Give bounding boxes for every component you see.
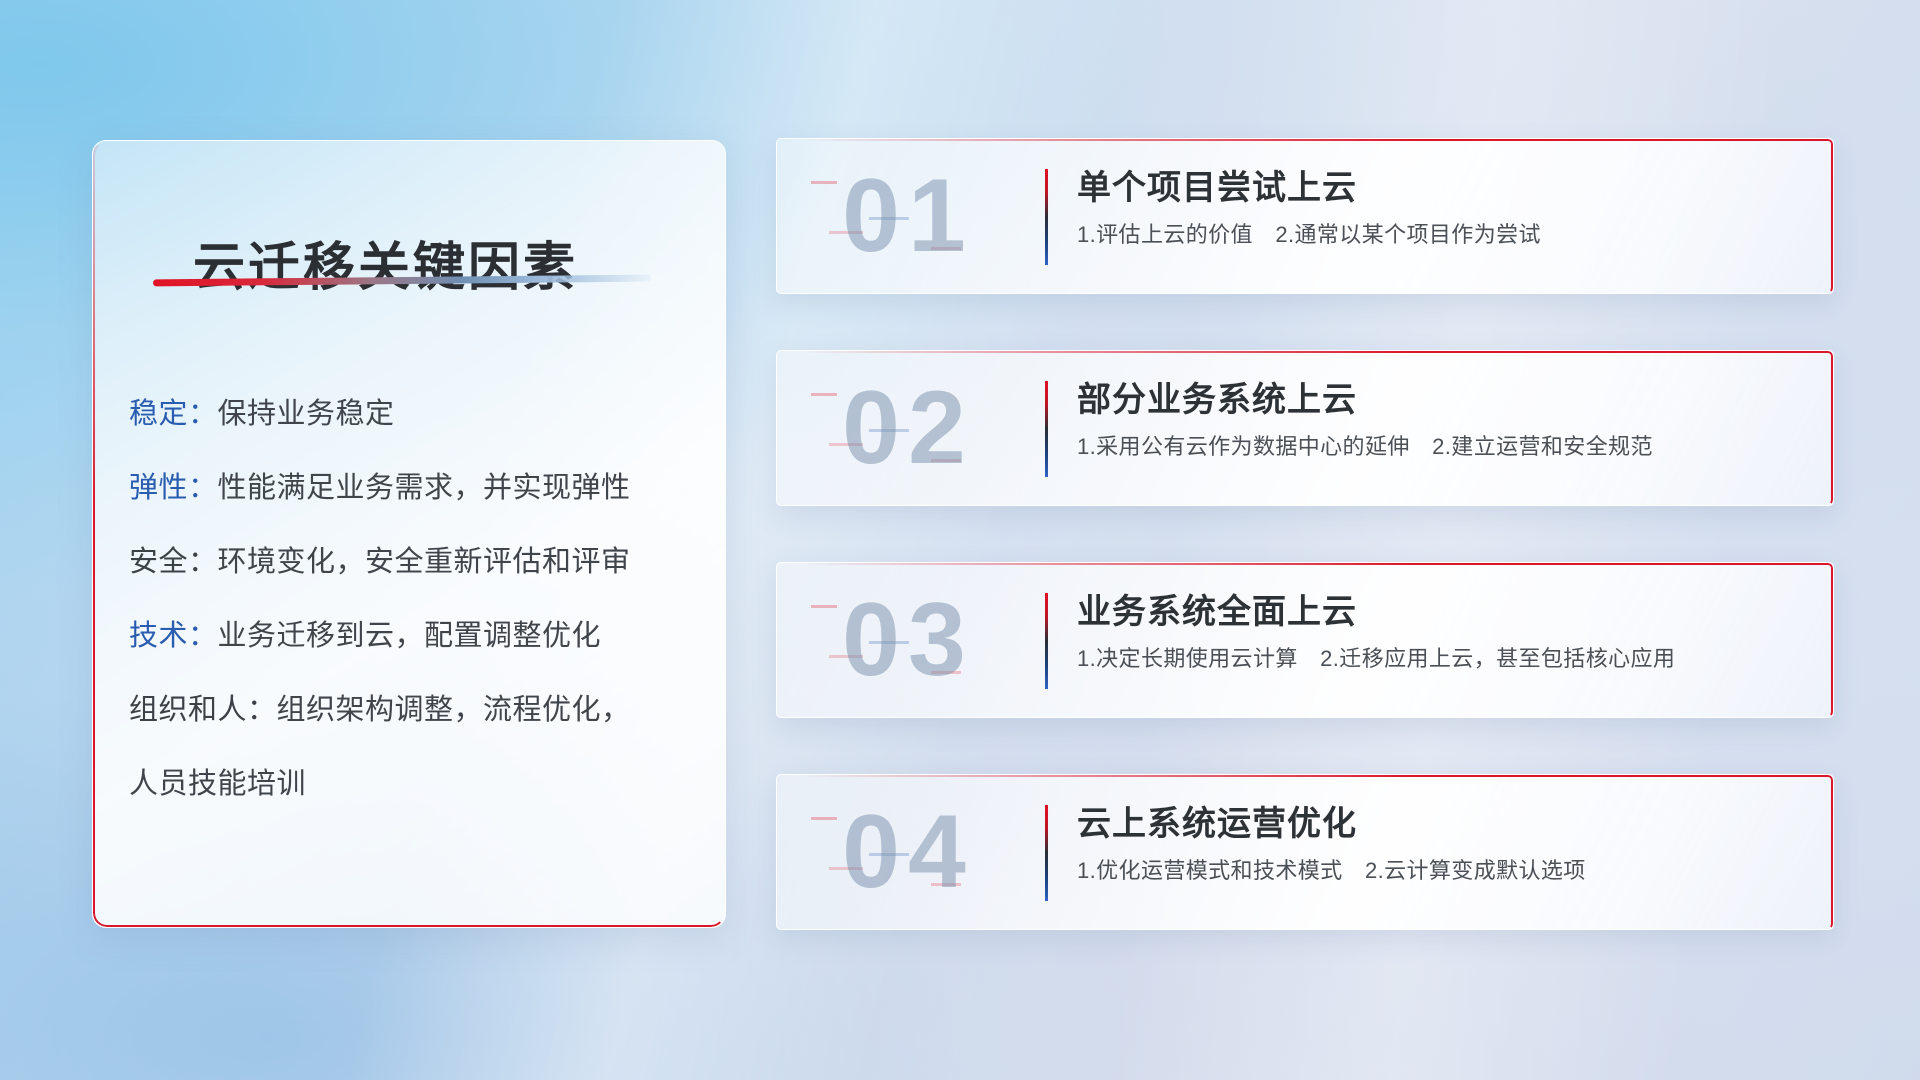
stage-card-title: 业务系统全面上云 [1077, 589, 1809, 635]
stage-card-description: 1.决定长期使用云计算 2.迁移应用上云，甚至包括核心应用 [1077, 643, 1809, 675]
stage-number: 04 [803, 796, 1013, 908]
stage-number: 02 [803, 372, 1013, 484]
factor-value: 环境变化，安全重新评估和评审 [218, 546, 631, 578]
stage-number: 01 [803, 160, 1013, 272]
factor-value: 人员技能培训 [129, 768, 306, 800]
factor-label: 弹性： [129, 472, 218, 504]
stage-card[interactable]: 01单个项目尝试上云1.评估上云的价值 2.通常以某个项目作为尝试 [776, 138, 1834, 294]
factor-row: 技术：业务迁移到云，配置调整优化 [129, 599, 699, 673]
stage-card-body: 单个项目尝试上云1.评估上云的价值 2.通常以某个项目作为尝试 [1077, 165, 1809, 251]
factor-row: 弹性：性能满足业务需求，并实现弹性 [129, 451, 699, 525]
slide-canvas: 云迁移关键因素 稳定：保持业务稳定弹性：性能满足业务需求，并实现弹性安全：环境变… [0, 0, 1920, 1080]
factor-value: 组织架构调整，流程优化， [277, 694, 631, 726]
card-divider-rule [1045, 805, 1048, 901]
stage-card-body: 业务系统全面上云1.决定长期使用云计算 2.迁移应用上云，甚至包括核心应用 [1077, 589, 1809, 675]
stage-card-body: 云上系统运营优化1.优化运营模式和技术模式 2.云计算变成默认选项 [1077, 801, 1809, 887]
stage-number-badge: 01 [777, 139, 1039, 293]
factor-label: 技术： [129, 620, 218, 652]
stage-number-badge: 02 [777, 351, 1039, 505]
stage-card[interactable]: 04云上系统运营优化1.优化运营模式和技术模式 2.云计算变成默认选项 [776, 774, 1834, 930]
factor-row: 稳定：保持业务稳定 [129, 377, 699, 451]
stage-card-title: 云上系统运营优化 [1077, 801, 1809, 847]
factor-value: 保持业务稳定 [218, 398, 395, 430]
stage-card[interactable]: 03业务系统全面上云1.决定长期使用云计算 2.迁移应用上云，甚至包括核心应用 [776, 562, 1834, 718]
stage-card[interactable]: 02部分业务系统上云1.采用公有云作为数据中心的延伸 2.建立运营和安全规范 [776, 350, 1834, 506]
stage-card-title: 部分业务系统上云 [1077, 377, 1809, 423]
stage-number-badge: 04 [777, 775, 1039, 929]
card-divider-rule [1045, 169, 1048, 265]
factor-label: 稳定： [129, 398, 218, 430]
card-divider-rule [1045, 381, 1048, 477]
page-title: 云迁移关键因素 [193, 225, 578, 300]
factor-row: 安全：环境变化，安全重新评估和评审 [129, 525, 699, 599]
stage-card-body: 部分业务系统上云1.采用公有云作为数据中心的延伸 2.建立运营和安全规范 [1077, 377, 1809, 463]
factor-value: 业务迁移到云，配置调整优化 [218, 620, 602, 652]
stage-card-list: 01单个项目尝试上云1.评估上云的价值 2.通常以某个项目作为尝试02部分业务系… [776, 138, 1834, 986]
stage-card-description: 1.评估上云的价值 2.通常以某个项目作为尝试 [1077, 219, 1809, 251]
factor-row: 组织和人：组织架构调整，流程优化， [129, 673, 699, 747]
factor-label: 组织和人： [129, 694, 277, 726]
key-factors-panel: 云迁移关键因素 稳定：保持业务稳定弹性：性能满足业务需求，并实现弹性安全：环境变… [92, 140, 726, 928]
stage-card-description: 1.优化运营模式和技术模式 2.云计算变成默认选项 [1077, 855, 1809, 887]
card-divider-rule [1045, 593, 1048, 689]
stage-number-badge: 03 [777, 563, 1039, 717]
stage-card-description: 1.采用公有云作为数据中心的延伸 2.建立运营和安全规范 [1077, 431, 1809, 463]
factor-row: 人员技能培训 [129, 747, 699, 821]
stage-card-title: 单个项目尝试上云 [1077, 165, 1809, 211]
stage-number: 03 [803, 584, 1013, 696]
factor-value: 性能满足业务需求，并实现弹性 [218, 472, 631, 504]
factor-label: 安全： [129, 546, 218, 578]
factor-list: 稳定：保持业务稳定弹性：性能满足业务需求，并实现弹性安全：环境变化，安全重新评估… [129, 377, 699, 821]
